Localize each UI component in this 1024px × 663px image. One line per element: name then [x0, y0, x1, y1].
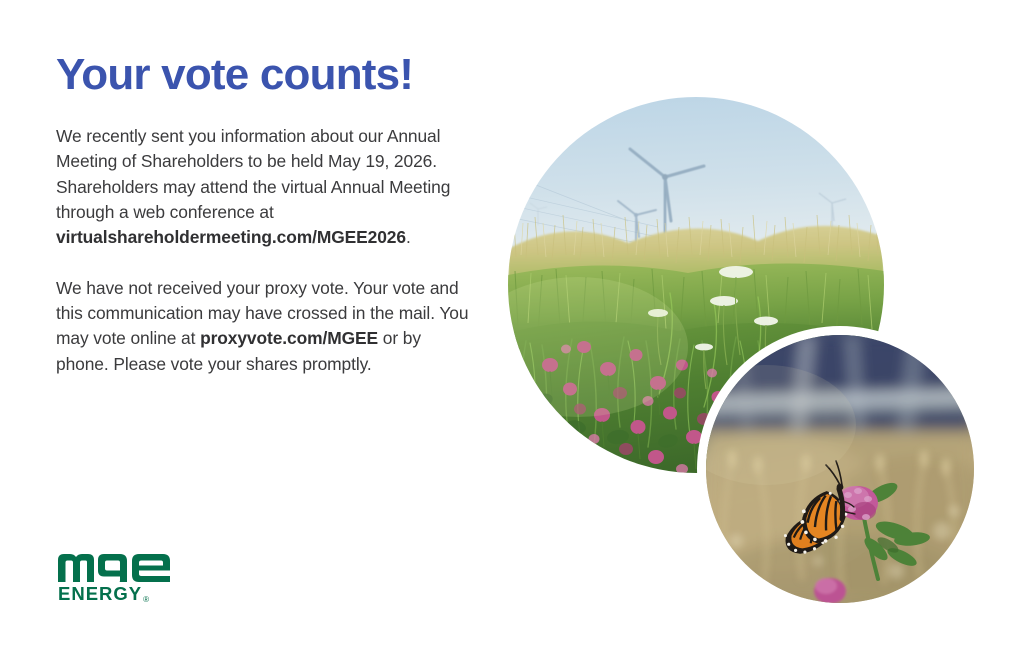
- monarch-butterfly-illustration: [706, 335, 974, 603]
- mge-energy-logo: ENERGY ®: [58, 549, 170, 604]
- page-title: Your vote counts!: [56, 52, 476, 98]
- virtual-meeting-url: virtualshareholdermeeting.com/MGEE2026: [56, 227, 406, 247]
- logo-subtext-row: ENERGY ®: [58, 585, 170, 604]
- monarch-butterfly: [781, 461, 855, 556]
- paragraph-proxy-vote: We have not received your proxy vote. Yo…: [56, 276, 476, 377]
- mge-wordmark-icon: [58, 549, 170, 582]
- message-block: Your vote counts! We recently sent you i…: [56, 52, 476, 377]
- clover-blossoms: [542, 341, 746, 473]
- proxy-vote-url: proxyvote.com/MGEE: [200, 328, 378, 348]
- wind-turbine-prairie-photo: [508, 97, 884, 473]
- paragraph-1-tail: .: [406, 227, 411, 247]
- wind-turbine-prairie-illustration: [508, 97, 884, 473]
- registered-trademark-icon: ®: [143, 596, 149, 604]
- logo-subtext: ENERGY: [58, 585, 142, 604]
- clover-plant: [814, 479, 931, 603]
- monarch-butterfly-photo: [706, 335, 974, 603]
- paragraph-1-lead: We recently sent you information about o…: [56, 126, 450, 222]
- proxy-vote-reminder-card: Your vote counts! We recently sent you i…: [0, 0, 1024, 663]
- paragraph-annual-meeting: We recently sent you information about o…: [56, 124, 476, 250]
- white-wildflowers: [648, 266, 778, 389]
